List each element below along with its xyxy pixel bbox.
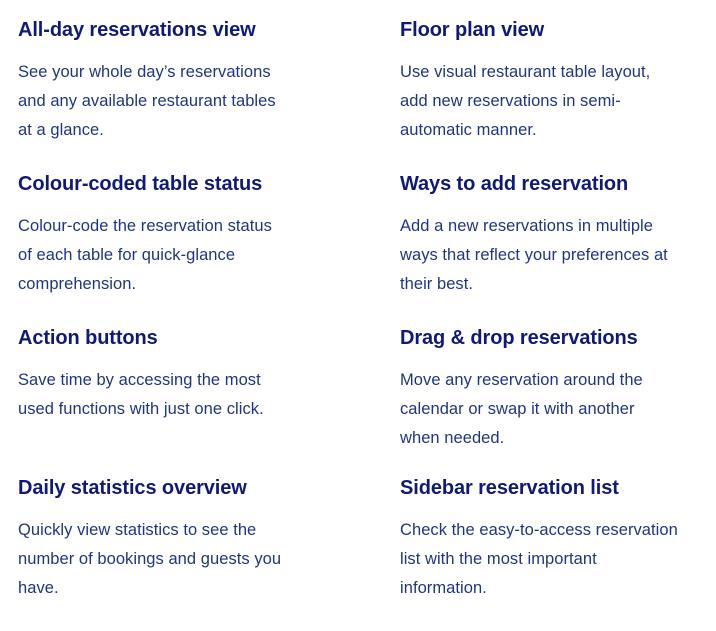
feature-description: Move any reservation around thecalendar …	[400, 366, 680, 453]
feature-card-sidebar-reservation-list: Sidebar reservation list Check the easy-…	[381, 476, 698, 631]
feature-card-action-buttons: Action buttons Save time by accessing th…	[0, 326, 381, 476]
feature-list: All-day reservations view See your whole…	[0, 0, 716, 631]
feature-description: Add a new reservations in multipleways t…	[400, 212, 680, 299]
feature-title: Sidebar reservation list	[400, 476, 680, 500]
feature-card-floor-plan-view: Floor plan view Use visual restaurant ta…	[381, 18, 698, 172]
feature-title: Daily statistics overview	[18, 476, 363, 500]
feature-description: Check the easy-to-access reservationlist…	[400, 516, 680, 603]
feature-description: Use visual restaurant table layout,add n…	[400, 58, 680, 145]
feature-card-drag-and-drop-reservations: Drag & drop reservations Move any reserv…	[381, 326, 698, 476]
feature-card-all-day-reservations-view: All-day reservations view See your whole…	[0, 18, 381, 172]
feature-card-ways-to-add-reservation: Ways to add reservation Add a new reserv…	[381, 172, 698, 326]
feature-title: Action buttons	[18, 326, 363, 350]
feature-title: Floor plan view	[400, 18, 680, 42]
feature-title: Drag & drop reservations	[400, 326, 680, 350]
feature-description: Save time by accessing the mostused func…	[18, 366, 363, 424]
feature-title: Colour-coded table status	[18, 172, 363, 196]
feature-title: Ways to add reservation	[400, 172, 680, 196]
feature-description: Colour-code the reservation statusof eac…	[18, 212, 363, 299]
feature-title: All-day reservations view	[18, 18, 363, 42]
feature-card-daily-statistics-overview: Daily statistics overview Quickly view s…	[0, 476, 381, 631]
feature-description: See your whole day’s reservationsand any…	[18, 58, 363, 145]
feature-description: Quickly view statistics to see thenumber…	[18, 516, 363, 603]
feature-card-colour-coded-table-status: Colour-coded table status Colour-code th…	[0, 172, 381, 326]
